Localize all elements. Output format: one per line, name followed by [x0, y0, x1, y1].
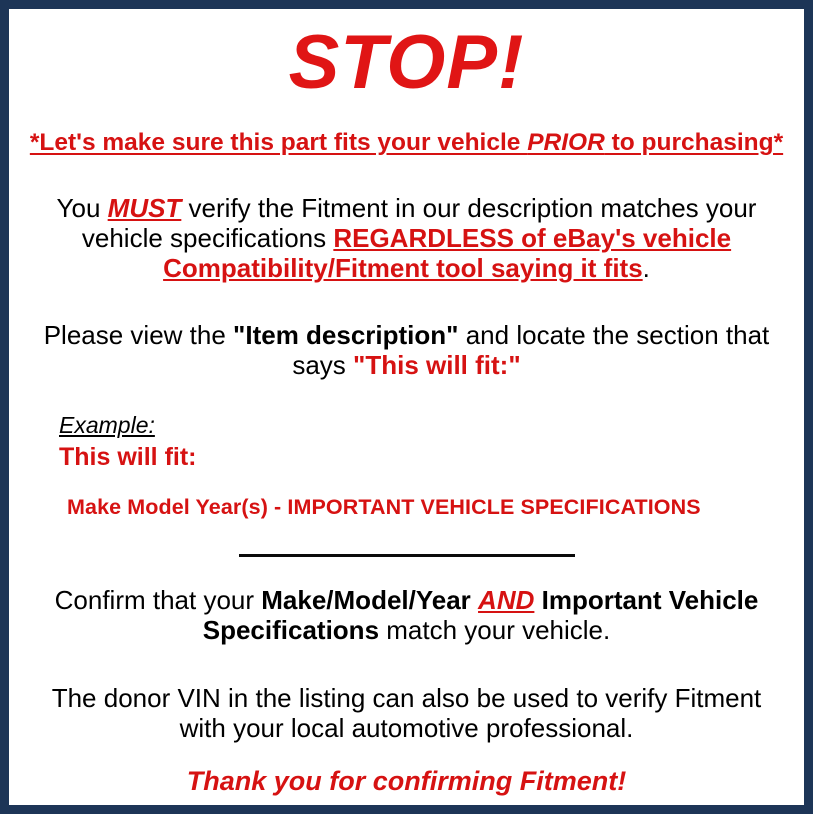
item-description-quote: "Item description" [233, 320, 458, 350]
tagline-part1: *Let's make sure this part fits your veh… [30, 129, 527, 156]
itemdesc-seg1: Please view the [44, 320, 233, 350]
must-verify-paragraph: You MUST verify the Fitment in our descr… [23, 193, 790, 283]
divider-container [23, 547, 790, 559]
example-block: Example: This will fit: Make Model Year(… [23, 412, 790, 521]
horizontal-divider [239, 554, 575, 557]
notice-content: STOP! *Let's make sure this part fits yo… [23, 25, 790, 821]
this-will-fit-quote: "This will fit:" [353, 350, 521, 380]
example-fit-line: This will fit: [59, 442, 790, 473]
confirm-seg1: Confirm that your [55, 585, 262, 615]
must-seg1: You [57, 193, 108, 223]
and-emphasis: AND [478, 585, 534, 615]
tagline: *Let's make sure this part fits your veh… [23, 129, 790, 157]
must-emphasis: MUST [108, 193, 182, 223]
fitment-notice-card: STOP! *Let's make sure this part fits yo… [0, 0, 813, 814]
item-description-paragraph: Please view the "Item description" and l… [23, 320, 790, 380]
thank-you-line: Thank you for confirming Fitment! [23, 765, 790, 797]
stop-heading: STOP! [23, 25, 790, 101]
make-model-year-emphasis: Make/Model/Year [261, 585, 471, 615]
example-label: Example: [59, 412, 790, 440]
tagline-part2: to purchasing* [605, 129, 783, 156]
confirm-paragraph: Confirm that your Make/Model/Year AND Im… [23, 585, 790, 645]
example-spec-line: Make Model Year(s) - IMPORTANT VEHICLE S… [67, 495, 790, 521]
tagline-prior-emphasis: PRIOR [527, 129, 605, 156]
confirm-seg2: match your vehicle. [379, 615, 610, 645]
must-seg3: . [643, 253, 650, 283]
donor-vin-paragraph: The donor VIN in the listing can also be… [23, 683, 790, 743]
